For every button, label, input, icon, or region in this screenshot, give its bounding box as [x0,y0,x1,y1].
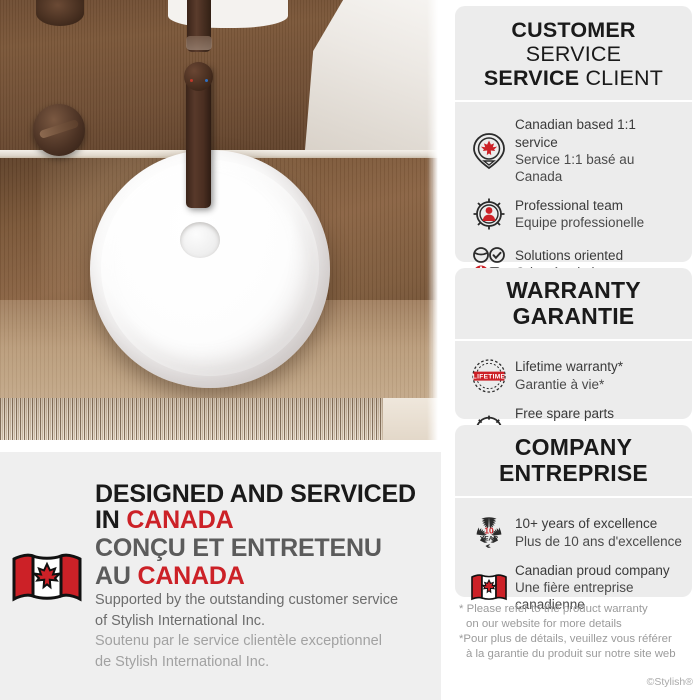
item-text-fr: Garantie à vie* [515,376,623,393]
footnote-line-1: * Please refer to the product warranty [459,602,697,617]
product-marketing-infographic: CUSTOMER SERVICE SERVICE CLIENT Canadian… [0,0,700,700]
footnote-line-4: à la garantie du produit sur notre site … [459,647,697,662]
product-photo [0,0,441,440]
designed-body-text: Supported by the outstanding customer se… [95,590,440,672]
customer-service-heading: CUSTOMER SERVICE SERVICE CLIENT [455,6,692,102]
item-text-en: Professional team [515,197,644,214]
canada-pin-icon [467,130,511,172]
list-item-text: Lifetime warranty* Garantie à vie* [515,358,623,393]
item-text-fr: Plus de 10 ans d'excellence [515,533,682,550]
designed-country-en: CANADA [126,506,233,534]
designed-in-canada-panel: DESIGNED AND SERVICED IN CANADA CONÇU ET… [0,452,441,700]
list-item: Canadian based 1:1 service Service 1:1 b… [467,116,682,185]
list-item-text: Canadian based 1:1 service Service 1:1 b… [515,116,682,185]
company-card: COMPANY ENTREPRISE [455,425,692,597]
drain-knob-icon [33,104,85,156]
copyright-notice: ©Stylish® [455,676,699,688]
item-text-en: Lifetime warranty* [515,358,623,375]
company-heading: COMPANY ENTREPRISE [455,425,692,498]
heading-warranty-en: WARRANTY [461,278,686,304]
designed-heading-fr-2: AU CANADA [95,563,435,589]
list-item-text: Professional team Equipe professionelle [515,197,644,232]
designed-in-prefix: IN [95,506,126,534]
list-item: Professional team Equipe professionelle [467,193,682,235]
designed-heading-fr-1: CONÇU ET ENTRETENU [95,535,435,561]
designed-body-en-1: Supported by the outstanding customer se… [95,590,440,611]
designed-heading-en-2: IN CANADA [95,507,435,533]
drain-icon [180,222,220,258]
footnote-line-3: *Pour plus de détails, veuillez vous réf… [459,632,697,647]
warranty-card: WARRANTY GARANTIE LIFETIME Lifetime warr… [455,268,692,419]
canada-flag-icon [8,548,86,604]
gear-person-icon [467,193,511,235]
item-text-en: Solutions oriented [515,247,623,264]
heading-company-fr: ENTREPRISE [461,461,686,487]
designed-body-en-2: of Stylish International Inc. [95,611,440,632]
heading-client-fr: CLIENT [585,66,663,90]
item-text-fr: Service 1:1 basé au Canada [515,151,682,186]
designed-country-fr: CANADA [137,562,244,590]
designed-au-prefix: AU [95,562,137,590]
list-item-text: 10+ years of excellence Plus de 10 ans d… [515,515,682,550]
item-text-en: Canadian proud company [515,562,670,579]
laurel-10-year-icon: 10 YEAR [467,512,511,554]
photo-right-fade [427,0,441,440]
drain-knob-upper [36,0,84,26]
faucet-head [184,62,213,91]
years-badge-number: 10 [484,525,494,535]
heading-customer: CUSTOMER [511,18,635,42]
footnote-line-2: on our website for more details [459,617,697,632]
sink-upper-reflection [168,0,288,28]
item-text-fr: Equipe professionelle [515,214,644,231]
item-text-en: 10+ years of excellence [515,515,682,532]
item-text-en: Canadian based 1:1 service [515,116,682,151]
faucet-base-reflection [186,36,212,50]
designed-body-fr-2: de Stylish International Inc. [95,652,440,673]
list-item: 10 YEAR 10+ years of excellence Plus de … [467,512,682,554]
years-badge-label: YEAR [480,535,499,542]
warranty-heading: WARRANTY GARANTIE [455,268,692,341]
item-text-fr: Une fière entreprise [515,579,670,596]
designed-heading: DESIGNED AND SERVICED IN CANADA CONÇU ET… [95,481,435,589]
heading-service: SERVICE [526,42,621,66]
rug-shading [0,398,441,440]
warranty-footnote: * Please refer to the product warranty o… [459,602,697,662]
heading-warranty-fr: GARANTIE [461,304,686,330]
list-item: LIFETIME Lifetime warranty* Garantie à v… [467,355,682,397]
customer-service-card: CUSTOMER SERVICE SERVICE CLIENT Canadian… [455,6,692,262]
heading-company-en: COMPANY [461,435,686,461]
heading-service-fr: SERVICE [484,66,579,90]
designed-heading-en-1: DESIGNED AND SERVICED [95,481,435,507]
cold-indicator-icon [205,79,208,82]
designed-body-fr-1: Soutenu par le service clientèle excepti… [95,631,440,652]
lifetime-badge-icon: LIFETIME [467,355,511,397]
hot-indicator-icon [190,79,193,82]
item-text-en: Free spare parts [515,405,682,422]
lifetime-badge-text: LIFETIME [473,373,506,380]
